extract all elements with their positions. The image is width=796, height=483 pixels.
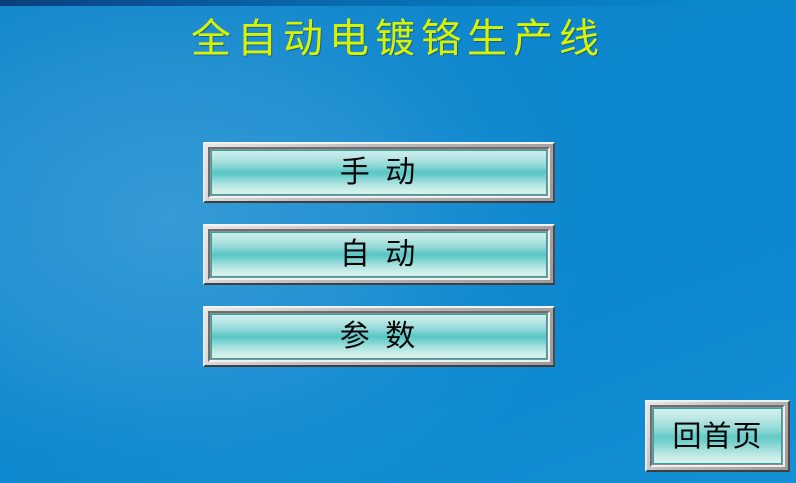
parameters-button[interactable]: 参 数 (203, 306, 555, 367)
hmi-screen: 全自动电镀铬生产线 手 动 自 动 参 数 回首页 (0, 0, 796, 483)
manual-button-bevel: 手 动 (208, 147, 550, 198)
auto-button-face: 自 动 (211, 232, 547, 277)
manual-button-label: 手 动 (340, 158, 419, 188)
top-accent-strip (0, 0, 796, 6)
auto-button-label: 自 动 (340, 240, 419, 270)
home-button-bevel: 回首页 (650, 405, 785, 467)
manual-button-face: 手 动 (211, 150, 547, 195)
parameters-button-bevel: 参 数 (208, 311, 550, 362)
page-title: 全自动电镀铬生产线 (0, 14, 796, 64)
home-button-label: 回首页 (672, 422, 762, 451)
auto-button-bevel: 自 动 (208, 229, 550, 280)
home-button-face: 回首页 (653, 408, 782, 464)
manual-mode-button[interactable]: 手 动 (203, 142, 555, 203)
parameters-button-label: 参 数 (340, 322, 419, 352)
parameters-button-face: 参 数 (211, 314, 547, 359)
home-button[interactable]: 回首页 (645, 400, 790, 472)
auto-mode-button[interactable]: 自 动 (203, 224, 555, 285)
